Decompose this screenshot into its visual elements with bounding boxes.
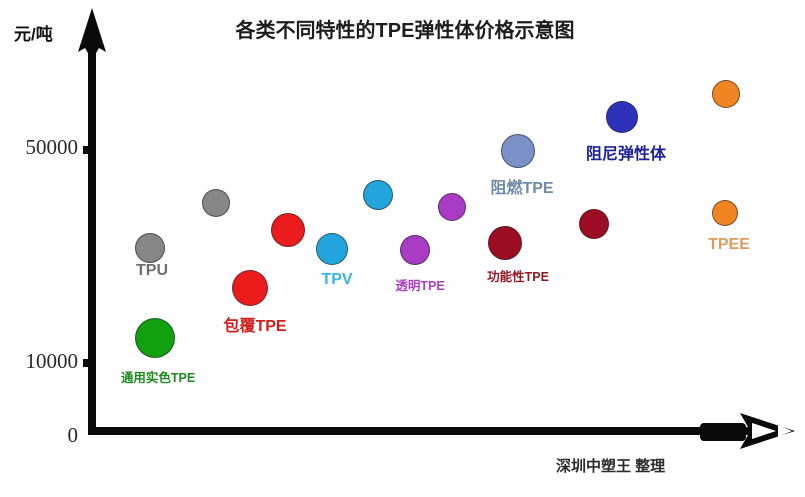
y-axis-tick-50000 [83, 146, 96, 154]
credit-text: 深圳中塑王 整理 [556, 455, 665, 476]
y-axis-arrow-icon [76, 8, 108, 60]
y-axis-tick-label-50000: 50000 [10, 135, 78, 160]
series-label: 包覆TPE [223, 312, 286, 336]
x-axis-line [88, 427, 756, 435]
data-point [232, 270, 268, 306]
series-label: 通用实色TPE [121, 367, 195, 386]
data-point [363, 180, 393, 210]
data-point [712, 200, 738, 226]
series-label: TPV [321, 271, 352, 289]
y-axis-tick-10000 [83, 359, 96, 367]
y-axis-tick-label-10000: 10000 [10, 349, 78, 374]
data-point [400, 235, 430, 265]
series-label: TPU [136, 262, 168, 280]
chart-title: 各类不同特性的TPE弹性体价格示意图 [180, 14, 630, 43]
data-point [606, 101, 638, 133]
data-point [501, 134, 535, 168]
series-label: TPEE [708, 236, 750, 254]
axis-origin-label: 0 [40, 423, 78, 448]
x-axis-arrow-icon [700, 405, 795, 457]
data-point [271, 213, 305, 247]
series-label: 功能性TPE [487, 266, 549, 285]
data-point [579, 209, 609, 239]
data-point [438, 193, 466, 221]
y-axis-unit-label: 元/吨 [14, 20, 53, 45]
data-point [316, 233, 348, 265]
series-label: 阻燃TPE [490, 174, 553, 198]
chart-canvas: 元/吨 50000 10000 0 各类不同特性的TPE弹性体价格示意图 通用实… [0, 0, 805, 497]
data-point [712, 80, 740, 108]
y-axis-line [88, 52, 96, 434]
data-point [202, 189, 230, 217]
data-point [488, 226, 522, 260]
series-label: 阻尼弹性体 [586, 140, 666, 164]
series-label: 透明TPE [395, 275, 444, 294]
data-point [135, 318, 175, 358]
data-point [135, 233, 165, 263]
